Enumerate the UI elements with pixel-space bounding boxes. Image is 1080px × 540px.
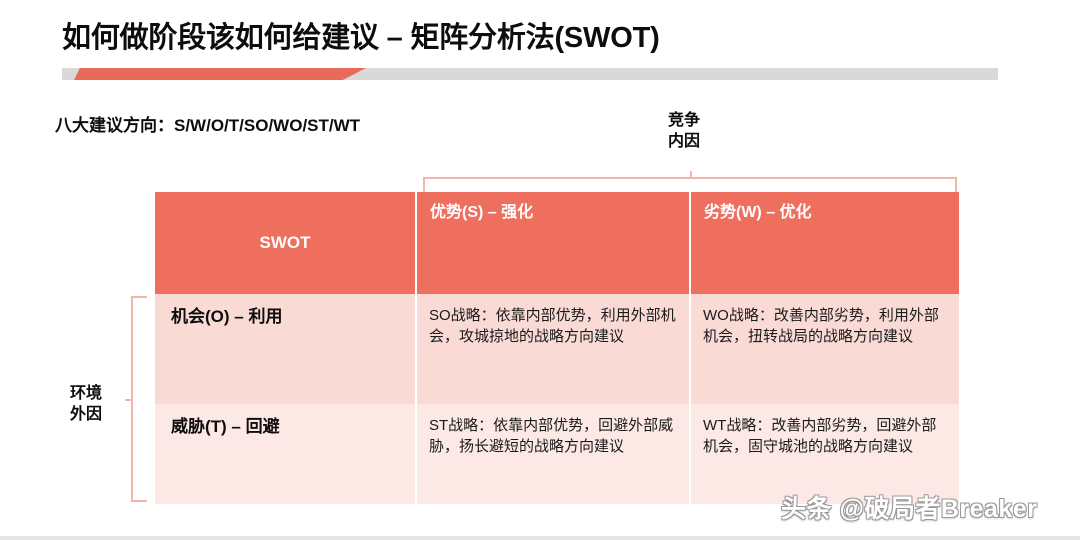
row-header-threats-label: 威胁(T) – 回避 bbox=[155, 404, 415, 438]
matrix-row-opportunities: 机会(O) – 利用 SO战略：依靠内部优势，利用外部机会，攻城掠地的战略方向建… bbox=[155, 294, 959, 404]
row-header-opportunities: 机会(O) – 利用 bbox=[155, 294, 416, 404]
axis-label-external-line2: 外因 bbox=[57, 404, 115, 425]
internal-factors-bracket-tick bbox=[690, 171, 692, 179]
row-header-opportunities-label: 机会(O) – 利用 bbox=[155, 294, 415, 328]
strategy-text-wt: WT战略：改善内部劣势，回避外部机会，固守城池的战略方向建议 bbox=[691, 404, 959, 458]
title-accent-highlight bbox=[74, 68, 366, 80]
subtitle-eight-directions: 八大建议方向：S/W/O/T/SO/WO/ST/WT bbox=[55, 111, 360, 136]
matrix-column-header-weaknesses: 劣势(W) – 优化 bbox=[690, 192, 959, 294]
matrix-corner-cell: SWOT bbox=[155, 192, 416, 294]
axis-label-external-line1: 环境 bbox=[57, 383, 115, 404]
axis-label-external: 环境 外因 bbox=[57, 383, 115, 425]
axis-label-internal-line1: 竞争 bbox=[668, 110, 700, 131]
axis-label-internal-line2: 内因 bbox=[668, 131, 700, 152]
title-block: 如何做阶段该如何给建议 – 矩阵分析法(SWOT) bbox=[62, 20, 1022, 56]
strategy-text-so: SO战略：依靠内部优势，利用外部机会，攻城掠地的战略方向建议 bbox=[417, 294, 689, 348]
axis-label-internal: 竞争 内因 bbox=[668, 110, 700, 152]
external-factors-bracket-tick bbox=[125, 399, 133, 401]
matrix-corner-label: SWOT bbox=[155, 192, 415, 294]
strategy-text-wo: WO战略：改善内部劣势，利用外部机会，扭转战局的战略方向建议 bbox=[691, 294, 959, 348]
matrix-cell-so: SO战略：依靠内部优势，利用外部机会，攻城掠地的战略方向建议 bbox=[416, 294, 690, 404]
swot-matrix: SWOT 优势(S) – 强化 劣势(W) – 优化 机会(O) – 利用 SO… bbox=[155, 192, 959, 504]
internal-factors-bracket bbox=[423, 177, 957, 193]
watermark: 头条 @破局者Breaker bbox=[781, 489, 1037, 525]
column-header-strengths-label: 优势(S) – 强化 bbox=[417, 192, 689, 224]
external-factors-bracket bbox=[131, 296, 147, 502]
column-header-weaknesses-label: 劣势(W) – 优化 bbox=[691, 192, 959, 224]
page-title: 如何做阶段该如何给建议 – 矩阵分析法(SWOT) bbox=[62, 20, 1022, 56]
matrix-cell-wo: WO战略：改善内部劣势，利用外部机会，扭转战局的战略方向建议 bbox=[690, 294, 959, 404]
row-header-threats: 威胁(T) – 回避 bbox=[155, 404, 416, 504]
title-accent-bar bbox=[62, 68, 998, 80]
matrix-header-row: SWOT 优势(S) – 强化 劣势(W) – 优化 bbox=[155, 192, 959, 294]
bottom-rule bbox=[0, 536, 1080, 540]
matrix-column-header-strengths: 优势(S) – 强化 bbox=[416, 192, 690, 294]
strategy-text-st: ST战略：依靠内部优势，回避外部威胁，扬长避短的战略方向建议 bbox=[417, 404, 689, 458]
matrix-cell-st: ST战略：依靠内部优势，回避外部威胁，扬长避短的战略方向建议 bbox=[416, 404, 690, 504]
